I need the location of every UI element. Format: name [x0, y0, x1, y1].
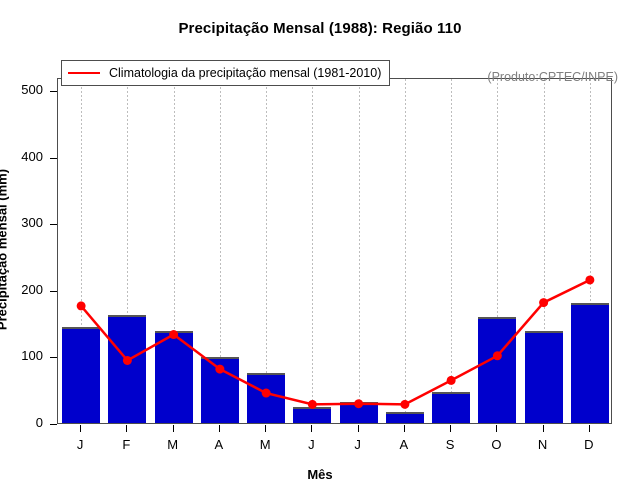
x-tick-label-J-0: J	[60, 437, 100, 452]
chart-container: Precipitação Mensal (1988): Região 110 P…	[0, 0, 640, 500]
x-tick-label-A-3: A	[199, 437, 239, 452]
y-tick-label: 500	[0, 82, 43, 97]
x-tick-label-O-9: O	[476, 437, 516, 452]
climatology-point-F-1	[123, 356, 132, 365]
climatology-point-O-9	[493, 351, 502, 360]
x-axis-title: Mês	[0, 467, 640, 482]
producer-note: (Produto:CPTEC/INPE)	[487, 70, 618, 84]
x-tick-label-D-11: D	[569, 437, 609, 452]
x-tick-mark	[219, 425, 220, 432]
climatology-point-N-10	[539, 298, 548, 307]
climatology-markers	[77, 275, 595, 408]
x-tick-mark	[265, 425, 266, 432]
climatology-point-M-2	[169, 330, 178, 339]
x-tick-label-J-5: J	[291, 437, 331, 452]
x-tick-label-M-2: M	[153, 437, 193, 452]
x-tick-label-M-4: M	[245, 437, 285, 452]
plot-area	[57, 78, 612, 424]
legend-label: Climatologia da precipitação mensal (198…	[109, 66, 381, 80]
x-tick-mark	[496, 425, 497, 432]
climatology-polyline	[81, 280, 590, 404]
legend-line-swatch	[68, 72, 100, 74]
y-tick-label: 200	[0, 282, 43, 297]
y-tick-label: 400	[0, 149, 43, 164]
y-axis: Precipitação mensal (mm) 010020030040050…	[0, 0, 57, 500]
climatology-point-A-3	[215, 365, 224, 374]
x-tick-mark	[450, 425, 451, 432]
climatology-point-A-7	[400, 400, 409, 409]
x-tick-mark	[358, 425, 359, 432]
x-tick-label-N-10: N	[523, 437, 563, 452]
x-tick-label-A-7: A	[384, 437, 424, 452]
climatology-point-J-0	[77, 301, 86, 310]
y-tick-mark	[50, 357, 57, 358]
x-tick-mark	[311, 425, 312, 432]
climatology-point-M-4	[262, 389, 271, 398]
y-tick-mark	[50, 224, 57, 225]
x-tick-label-J-6: J	[338, 437, 378, 452]
climatology-line-series	[58, 79, 613, 425]
climatology-point-J-6	[354, 399, 363, 408]
x-tick-mark	[173, 425, 174, 432]
y-tick-label: 0	[0, 415, 43, 430]
y-tick-label: 300	[0, 215, 43, 230]
climatology-point-S-8	[447, 376, 456, 385]
x-tick-mark	[404, 425, 405, 432]
x-tick-mark	[589, 425, 590, 432]
x-tick-label-S-8: S	[430, 437, 470, 452]
x-tick-label-F-1: F	[106, 437, 146, 452]
x-tick-mark	[543, 425, 544, 432]
y-tick-label: 100	[0, 348, 43, 363]
climatology-point-D-11	[585, 275, 594, 284]
y-tick-mark	[50, 158, 57, 159]
chart-title: Precipitação Mensal (1988): Região 110	[0, 20, 640, 37]
legend: Climatologia da precipitação mensal (198…	[61, 60, 390, 86]
x-tick-mark	[80, 425, 81, 432]
x-tick-mark	[126, 425, 127, 432]
y-tick-mark	[50, 291, 57, 292]
climatology-point-J-5	[308, 400, 317, 409]
y-tick-mark	[50, 424, 57, 425]
y-tick-mark	[50, 91, 57, 92]
